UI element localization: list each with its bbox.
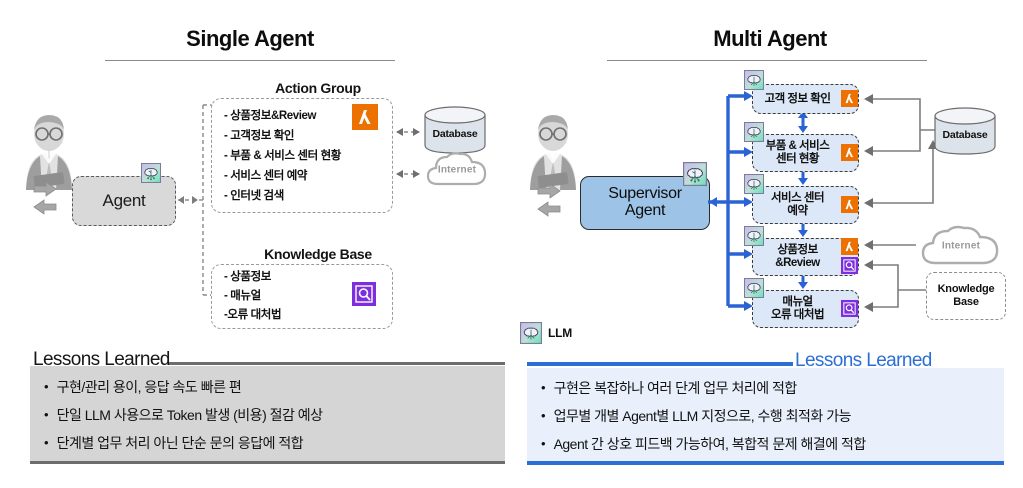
- panel-divider: [511, 0, 512, 488]
- agent-box-label-line1: 부품 & 서비스: [766, 140, 830, 153]
- agent-box-label-line1: 상품정보: [777, 244, 817, 257]
- left-lessons-bottom-rule: [30, 461, 505, 464]
- right-lessons-bullet: • 업무별 개별 Agent별 LLM 지정으로, 수행 최적화 가능: [541, 409, 851, 424]
- bullet-text: 구현/관리 용이, 응답 속도 빠른 편: [57, 380, 242, 395]
- multi-agent-title: Multi Agent: [600, 26, 940, 52]
- knowledge-base-label-line2: Base: [953, 296, 979, 309]
- knowledge-base-item: - 상품정보: [224, 272, 271, 284]
- right-lessons-title: Lessons Learned: [795, 350, 932, 372]
- user-avatar: [522, 112, 584, 190]
- single-agent-title: Single Agent: [80, 26, 420, 52]
- bullet-text: Agent 간 상호 피드백 가능하여, 복합적 문제 해결에 적합: [554, 437, 866, 452]
- agent-box-label-line2: 오류 대처법: [771, 309, 824, 322]
- bullet-dot-icon: •: [541, 437, 546, 451]
- internet-cloud: Internet: [918, 225, 1004, 271]
- agent-box-label-line2: 센터 현황: [776, 153, 819, 166]
- supervisor-agent-label-line2: Agent: [625, 203, 665, 220]
- agent-box-label-line1: 서비스 센터: [771, 192, 824, 205]
- multi-agent-title-rule: [607, 60, 927, 61]
- action-group-label: Action Group: [228, 80, 408, 96]
- action-group-item: - 서비스 센터 예약: [224, 171, 307, 183]
- action-group-item: - 상품정보&Review: [224, 111, 316, 123]
- database-cylinder: Database: [934, 107, 996, 155]
- bullet-dot-icon: •: [541, 409, 546, 423]
- llm-legend-label: LLM: [548, 326, 572, 340]
- aws-lambda-icon: [841, 196, 858, 218]
- left-lessons-bullet: • 단일 LLM 사용으로 Token 발생 (비용) 절감 예상: [44, 408, 323, 423]
- database-label: Database: [934, 129, 996, 141]
- action-group-item: - 고객정보 확인: [224, 131, 294, 143]
- bullet-text: 단계별 업무 처리 아닌 단순 문의 응답에 적합: [57, 436, 304, 451]
- right-lessons-top-rule: [527, 362, 793, 366]
- bullet-text: 단일 LLM 사용으로 Token 발생 (비용) 절감 예상: [57, 408, 323, 423]
- knowledge-base-icon: [841, 257, 858, 279]
- llm-icon: [141, 163, 161, 183]
- single-agent-title-rule: [105, 60, 395, 61]
- agent-box-label-line2: 예약: [787, 205, 807, 218]
- agent-box-label-line2: &Review: [775, 257, 819, 270]
- agent-box-label: 고객 정보 확인: [765, 93, 831, 106]
- internet-label: Internet: [918, 241, 1004, 252]
- user-agent-exchange-arrows: [32, 180, 58, 216]
- agent-box-label: Agent: [103, 191, 146, 211]
- knowledge-base-external-box: Knowledge Base: [926, 272, 1006, 320]
- bullet-text: 구현은 복잡하나 여러 단계 업무 처리에 적합: [554, 381, 797, 396]
- bullet-dot-icon: •: [44, 436, 49, 450]
- knowledge-base-label: Knowledge Base: [228, 246, 408, 262]
- llm-icon: [744, 278, 764, 298]
- database-cylinder: Database: [424, 106, 486, 154]
- bullet-text: 업무별 개별 Agent별 LLM 지정으로, 수행 최적화 가능: [554, 409, 851, 424]
- action-group-item: - 부품 & 서비스 센터 현황: [224, 151, 341, 163]
- llm-icon: [744, 122, 764, 142]
- internet-label: Internet: [424, 165, 490, 176]
- aws-lambda-icon: [352, 104, 378, 135]
- bullet-dot-icon: •: [44, 380, 49, 394]
- left-lessons-title: Lessons Learned: [33, 349, 170, 371]
- knowledge-base-label-line1: Knowledge: [938, 283, 995, 296]
- right-lessons-bullet: • Agent 간 상호 피드백 가능하여, 복합적 문제 해결에 적합: [541, 437, 866, 452]
- action-group-item: - 인터넷 검색: [224, 191, 284, 203]
- llm-icon: [520, 322, 542, 349]
- action-group-database-connector: [393, 124, 423, 142]
- supervisor-agent-label-line1: Supervisor: [608, 186, 681, 203]
- llm-icon: [744, 174, 764, 194]
- knowledge-base-icon: [841, 300, 858, 322]
- bullet-dot-icon: •: [541, 381, 546, 395]
- database-label: Database: [424, 128, 486, 140]
- agent-box[interactable]: Agent: [72, 176, 176, 226]
- knowledge-base-item: -오류 대처법: [224, 310, 281, 322]
- user-supervisor-exchange-arrows: [536, 182, 562, 218]
- action-group-internet-connector: [393, 166, 423, 184]
- knowledge-base-icon: [352, 282, 376, 311]
- right-lessons-bullet: • 구현은 복잡하나 여러 단계 업무 처리에 적합: [541, 381, 797, 396]
- left-lessons-top-rule: [168, 362, 505, 365]
- internet-cloud: Internet: [424, 150, 490, 192]
- right-lessons-bottom-rule: [527, 461, 1004, 465]
- llm-icon: [744, 70, 764, 90]
- aws-lambda-icon: [841, 90, 858, 112]
- bullet-dot-icon: •: [44, 408, 49, 422]
- llm-icon: [683, 162, 707, 186]
- knowledge-base-item: - 매뉴얼: [224, 291, 261, 303]
- user-avatar: [18, 112, 80, 190]
- llm-icon: [744, 226, 764, 246]
- left-lessons-bullet: • 구현/관리 용이, 응답 속도 빠른 편: [44, 380, 241, 395]
- aws-lambda-icon: [841, 144, 858, 166]
- agent-box-label-line1: 매뉴얼: [782, 296, 812, 309]
- left-lessons-bullet: • 단계별 업무 처리 아닌 단순 문의 응답에 적합: [44, 436, 303, 451]
